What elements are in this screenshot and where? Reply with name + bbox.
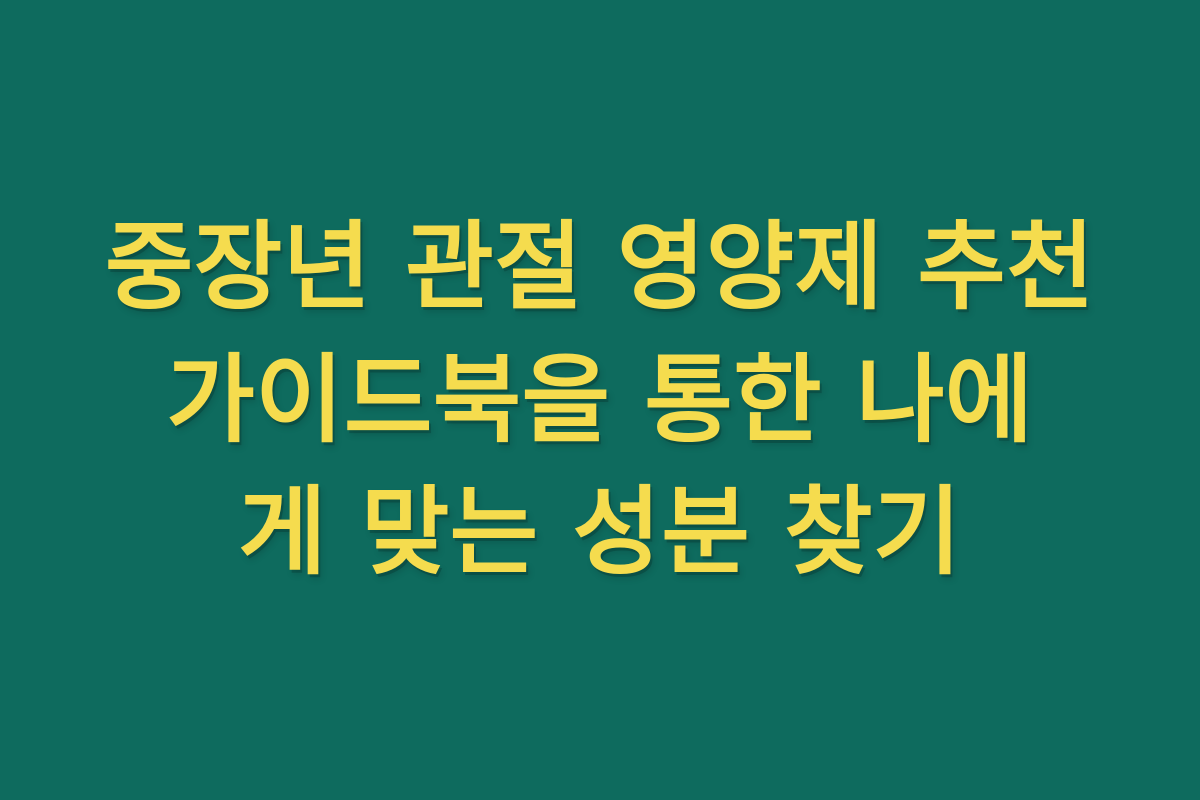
headline-line-3: 게 맞는 성분 찾기 <box>50 466 1150 598</box>
banner-canvas: 중장년 관절 영양제 추천 가이드북을 통한 나에 게 맞는 성분 찾기 <box>0 0 1200 800</box>
headline-text-block: 중장년 관절 영양제 추천 가이드북을 통한 나에 게 맞는 성분 찾기 <box>50 201 1150 598</box>
headline-line-1: 중장년 관절 영양제 추천 <box>50 201 1150 333</box>
headline-line-2: 가이드북을 통한 나에 <box>50 334 1150 466</box>
